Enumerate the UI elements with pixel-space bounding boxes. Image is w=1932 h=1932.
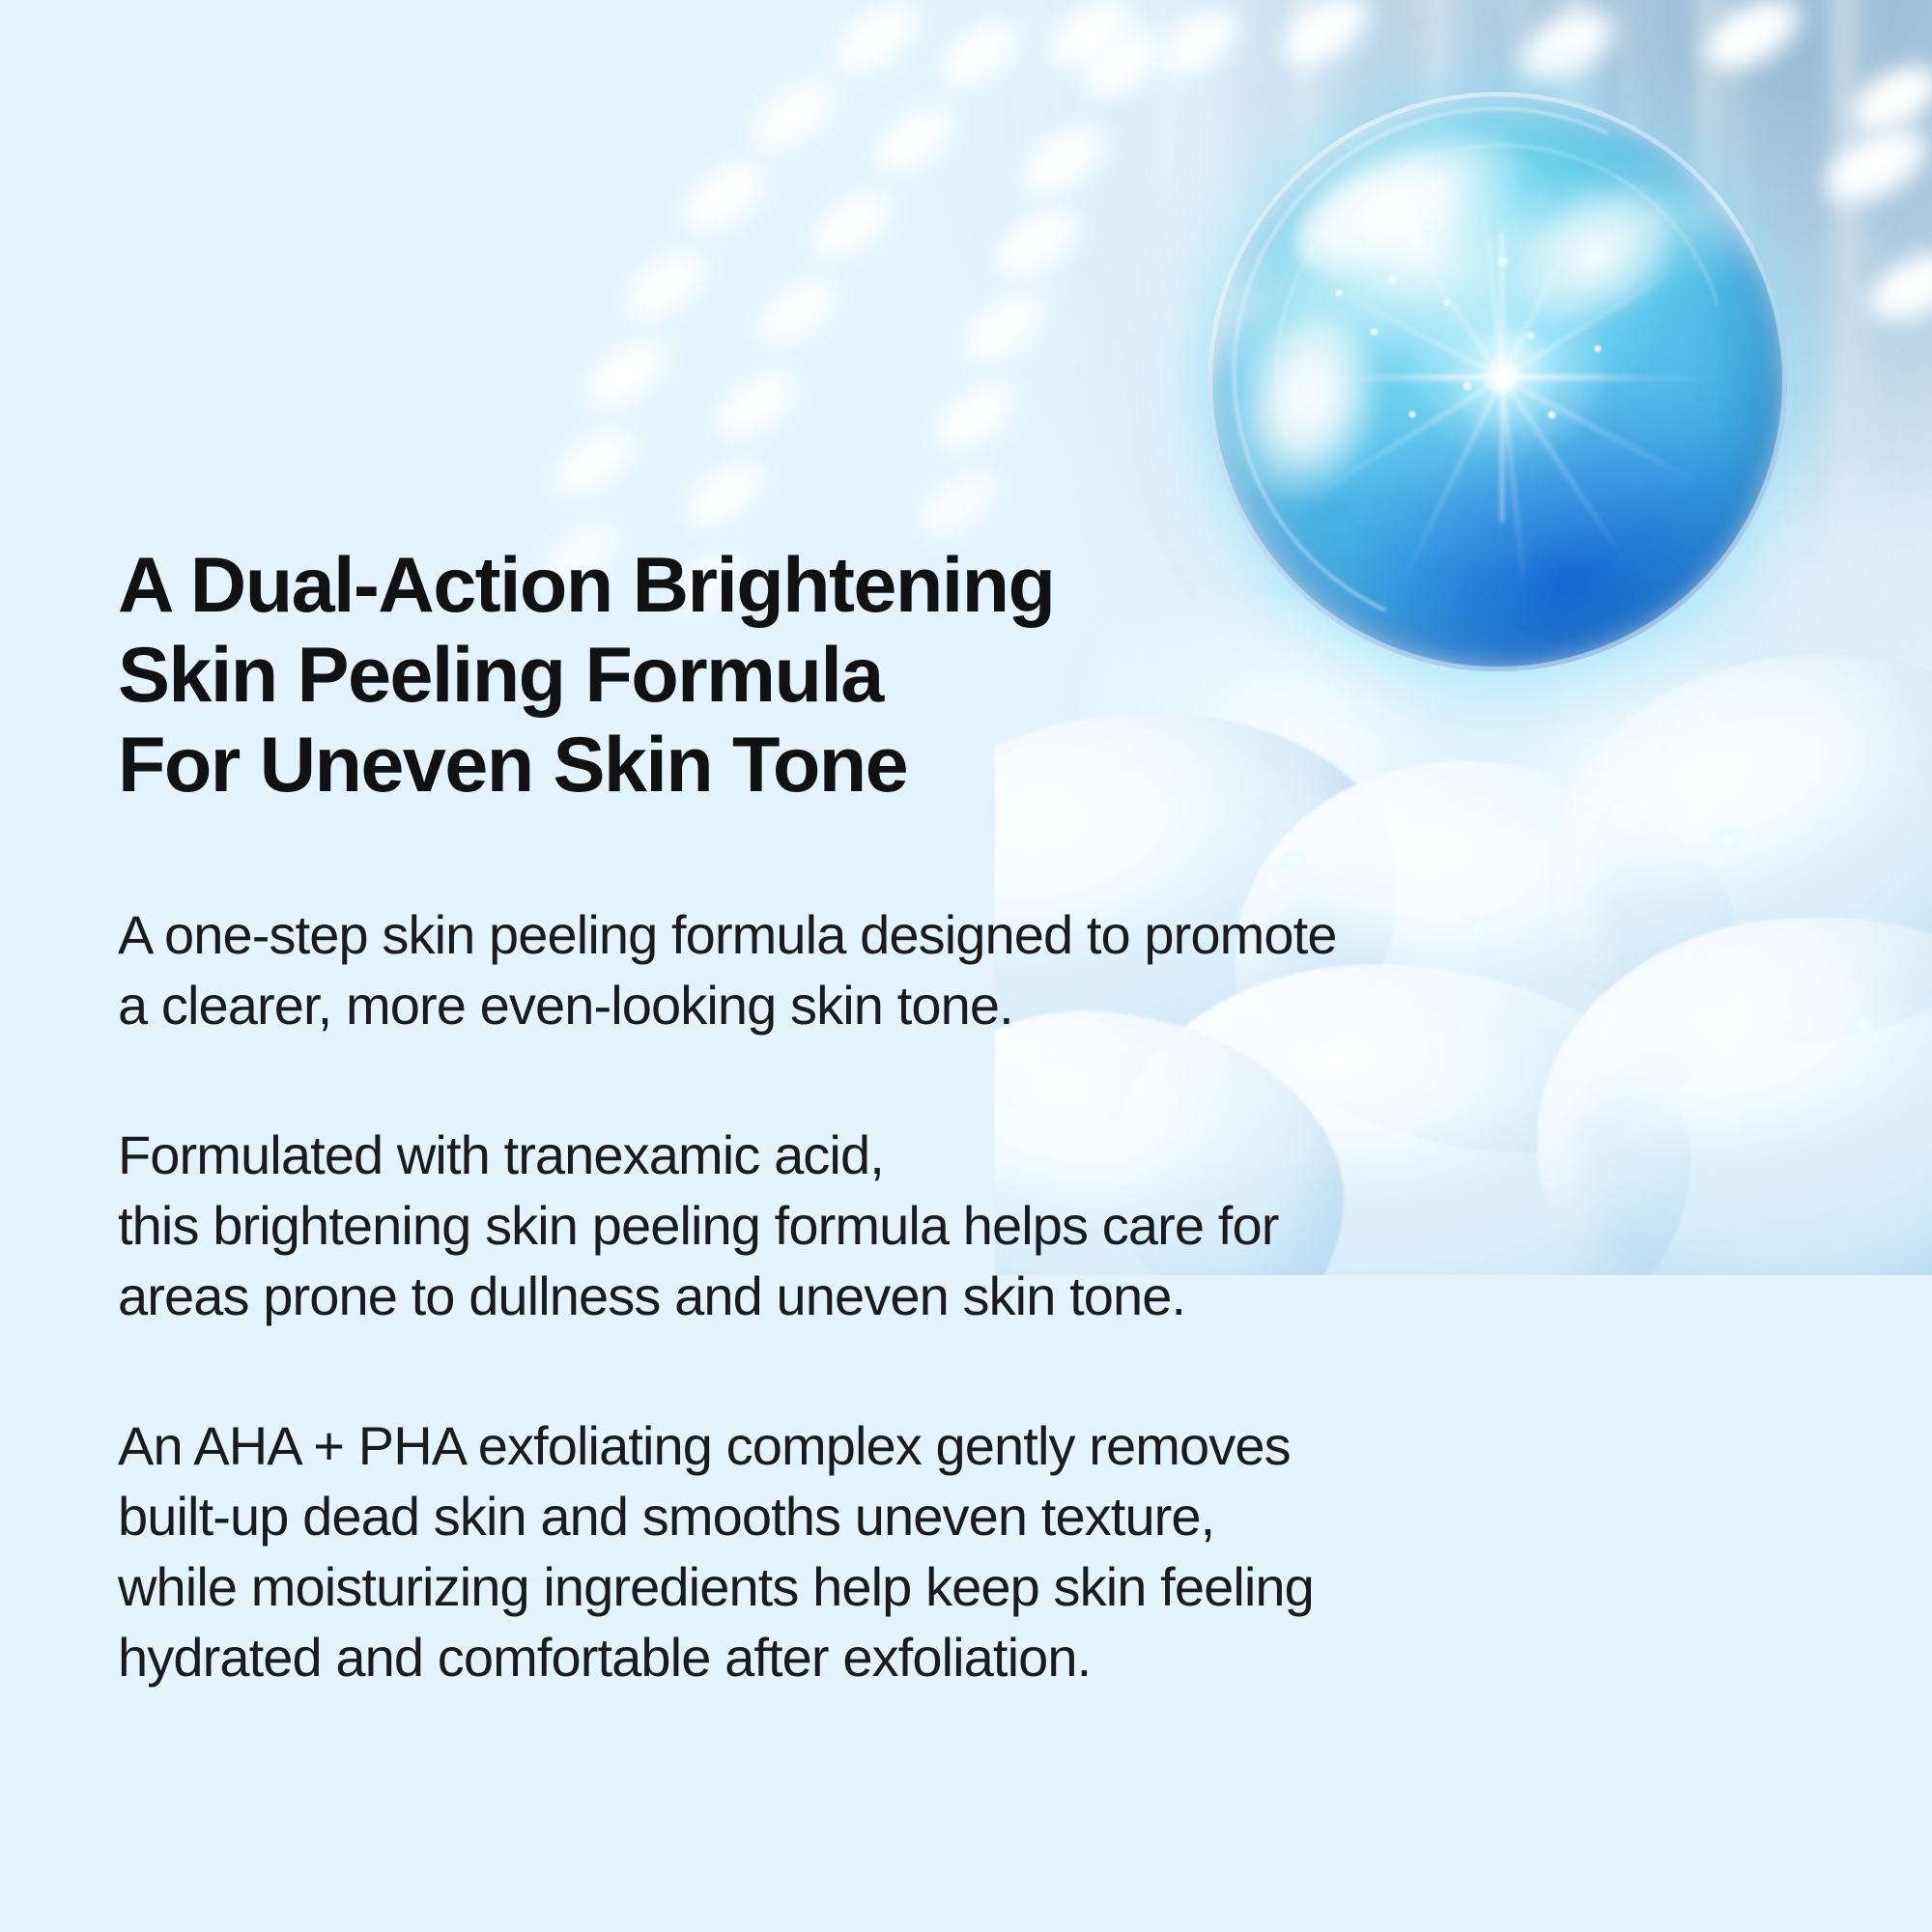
sphere-highlight-left <box>1214 298 1396 517</box>
body-paragraph-intro: A one-step skin peeling formula designed… <box>118 899 1663 1040</box>
promo-poster: A Dual-Action Brightening Skin Peeling F… <box>0 0 1932 1932</box>
body-paragraph-aha-pha: An AHA + PHA exfoliating complex gently … <box>118 1410 1663 1692</box>
sphere-highlight-top <box>1273 103 1541 307</box>
sphere-starburst <box>1381 256 1623 497</box>
body-paragraph-tranexamic: Formulated with tranexamic acid, this br… <box>118 1120 1663 1331</box>
page-title: A Dual-Action Brightening Skin Peeling F… <box>118 541 1663 810</box>
sphere-highlight-right <box>1495 164 1695 351</box>
copy-block: A Dual-Action Brightening Skin Peeling F… <box>118 541 1663 1692</box>
